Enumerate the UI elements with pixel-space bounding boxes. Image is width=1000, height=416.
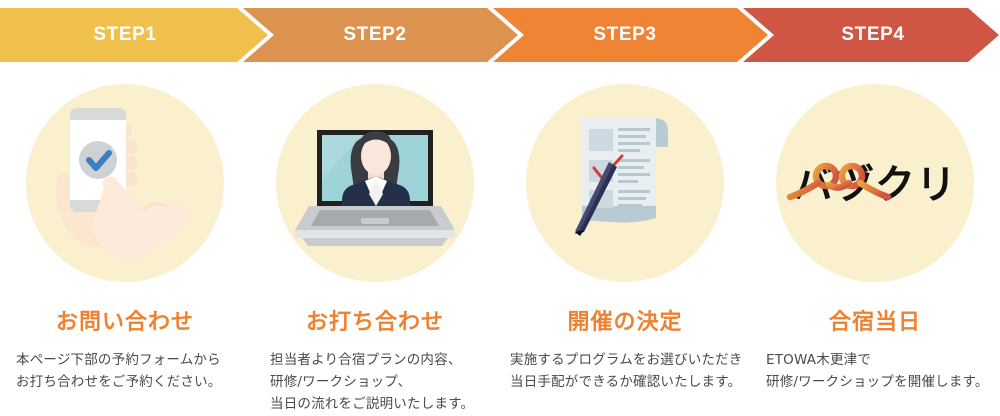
step-column-4: バヅクリ 合宿当日 ETOWA木更津で 研修/ワークショップを開催します。 [750, 72, 1000, 407]
step-chevron-4[interactable] [743, 8, 999, 62]
step-3-body-line-1: 実施するプログラムをお選びいただき [510, 350, 746, 372]
step-column-3: 開催の決定 実施するプログラムをお選びいただき 当日手配ができるか確認いたします… [500, 72, 750, 407]
step-2-icon-circle [276, 84, 474, 282]
smartphone-tap-check-icon [26, 84, 224, 282]
step-4-body: ETOWA木更津で 研修/ワークショップを開催します。 [766, 350, 1000, 394]
step-4-heading: 合宿当日 [750, 304, 1000, 336]
step-2-body-line-1: 担当者より合宿プランの内容、 [270, 350, 506, 372]
step-1-body-line-1: 本ページ下部の予約フォームから [16, 350, 252, 372]
step-2-body-line-3: 当日の流れをご説明いたします。 [270, 394, 506, 416]
step-progress-bar: STEP1 STEP2 STEP3 STEP4 [0, 8, 1000, 62]
step-4-icon-circle: バヅクリ [776, 84, 974, 282]
step-2-body: 担当者より合宿プランの内容、 研修/ワークショップ、 当日の流れをご説明いたしま… [270, 350, 506, 416]
ribbon-bow-mark-icon [785, 161, 895, 207]
step-3-body: 実施するプログラムをお選びいただき 当日手配ができるか確認いたします。 [510, 350, 746, 394]
step-3-heading: 開催の決定 [500, 304, 750, 336]
step-2-heading: お打ち合わせ [250, 304, 500, 336]
step-3-body-line-2: 当日手配ができるか確認いたします。 [510, 372, 746, 394]
step-chevron-3[interactable] [493, 8, 768, 62]
step-2-body-line-2: 研修/ワークショップ、 [270, 372, 506, 394]
step-chevron-1[interactable] [0, 8, 268, 62]
step-column-1: お問い合わせ 本ページ下部の予約フォームから お打ち合わせをご予約ください。 [0, 72, 250, 407]
steps-container: お問い合わせ 本ページ下部の予約フォームから お打ち合わせをご予約ください。 [0, 72, 1000, 407]
step-4-body-line-2: 研修/ワークショップを開催します。 [766, 372, 1000, 394]
step-1-icon-circle [26, 84, 224, 282]
step-chevron-2[interactable] [243, 8, 518, 62]
step-bar-shapes [0, 8, 1000, 62]
step-1-heading: お問い合わせ [0, 304, 250, 336]
step-3-icon-circle [526, 84, 724, 282]
document-pen-checkmark-icon [526, 84, 724, 282]
step-4-body-line-1: ETOWA木更津で [766, 350, 1000, 372]
step-column-2: お打ち合わせ 担当者より合宿プランの内容、 研修/ワークショップ、 当日の流れを… [250, 72, 500, 407]
laptop-video-meeting-icon [276, 84, 474, 282]
step-1-body: 本ページ下部の予約フォームから お打ち合わせをご予約ください。 [16, 350, 252, 394]
step-1-body-line-2: お打ち合わせをご予約ください。 [16, 372, 252, 394]
bazukuri-logo-icon: バヅクリ [785, 161, 965, 205]
